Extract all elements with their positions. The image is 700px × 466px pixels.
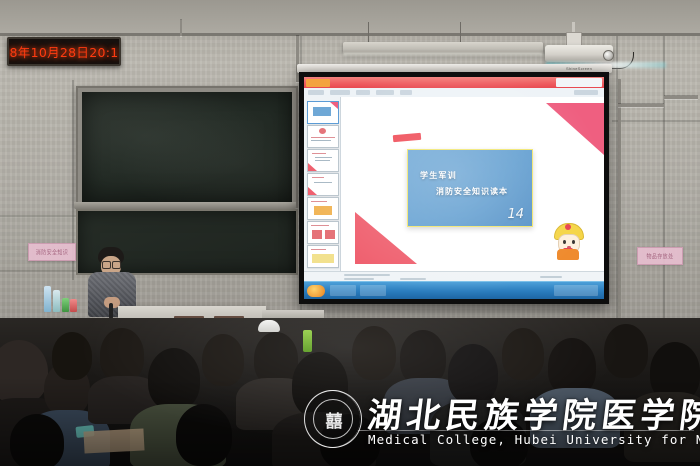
windows-taskbar[interactable] [304,281,604,299]
emblem-outer-ring [304,390,360,448]
list-item[interactable] [307,245,339,268]
slide-red-tab [393,133,422,142]
slide-number: 14 [507,207,524,222]
ribbon-chip[interactable] [356,90,370,95]
chalk-dust [82,92,292,202]
instructor-glasses-lens [102,261,111,269]
taskbar-item[interactable] [330,285,356,296]
list-item[interactable] [307,221,339,244]
system-tray[interactable] [554,285,598,296]
wall-sign-right-text: 物品存放处 [646,252,673,261]
wall-seam [0,215,76,217]
ribbon-chip[interactable] [376,90,394,95]
led-date-text: 18年10月28日20:13 [7,42,121,61]
instructor-glasses-lens [112,261,121,269]
ribbon-chip[interactable] [400,90,412,95]
bottle [44,286,51,312]
slide-title-line2: 消防安全知识读本 [436,186,508,197]
wall-sign-left-text: 消防安全知识 [36,248,68,257]
ceiling-edge [0,33,700,36]
ceiling [0,0,700,36]
light-hanger [368,22,369,44]
wall-seam [612,120,700,122]
wall-seam [663,36,665,326]
list-item[interactable] [307,125,339,148]
chalkboard [82,92,292,202]
watermark-english-title: Medical College, Hubei University for Na… [368,432,700,447]
ppt-title-bar [304,77,604,88]
wall-sign-left: 消防安全知识 [28,243,76,261]
microphone-icon [109,303,113,319]
list-item[interactable] [307,149,339,172]
ppt-file-tab[interactable] [306,79,330,87]
led-date-display: 18年10月28日20:13 [7,37,121,66]
watermark-chinese-title: 湖北民族学院医学院 [365,388,700,437]
conduit-pipe [618,104,664,107]
ribbon-chip[interactable] [330,90,350,95]
conduit-pipe [618,80,621,320]
conduit-pipe [180,20,182,36]
watermark: 囍 湖北民族学院医学院 Medical College, Hubei Unive… [300,388,696,452]
chalk-tray [74,202,296,209]
light-hanger [460,22,461,44]
bottle [70,299,77,312]
mascot-body [557,249,579,260]
mascot-eye [572,240,575,244]
bottle [53,290,60,312]
slide-triangle-top-right [546,103,604,155]
water-bottles [44,282,78,312]
ppt-slide-canvas[interactable]: 学生军训 消防安全知识读本 14 [341,97,604,282]
mascot-eye [563,240,566,244]
classroom-photo: 18年10月28日20:13 消防安全知识 物品存放处 ShineScreen [0,0,700,466]
bottle [62,298,69,312]
firefighter-mascot-icon [551,221,585,261]
ppt-window-controls[interactable] [556,78,602,87]
slide-title-card: 学生军训 消防安全知识读本 14 [407,149,533,227]
ppt-slide-thumbnail-panel[interactable] [304,97,341,282]
mascot-badge [565,224,571,230]
conduit-pipe [664,96,698,99]
start-button[interactable] [307,285,325,297]
ribbon-chip[interactable] [308,90,324,95]
list-item[interactable] [307,173,339,196]
wall-seam [0,270,80,272]
slide-title-line1: 学生军训 [420,170,457,181]
projection-screen: 学生军训 消防安全知识读本 14 [304,77,604,299]
chalkboard-frame [76,86,298,208]
list-item[interactable] [307,101,339,124]
taskbar-item[interactable] [360,285,386,296]
wall-sign-right: 物品存放处 [637,247,683,265]
ceiling-light-glow [343,53,543,57]
ribbon-chip[interactable] [574,90,598,95]
list-item[interactable] [307,197,339,220]
screen-brand-label: ShineScreen [566,66,592,71]
